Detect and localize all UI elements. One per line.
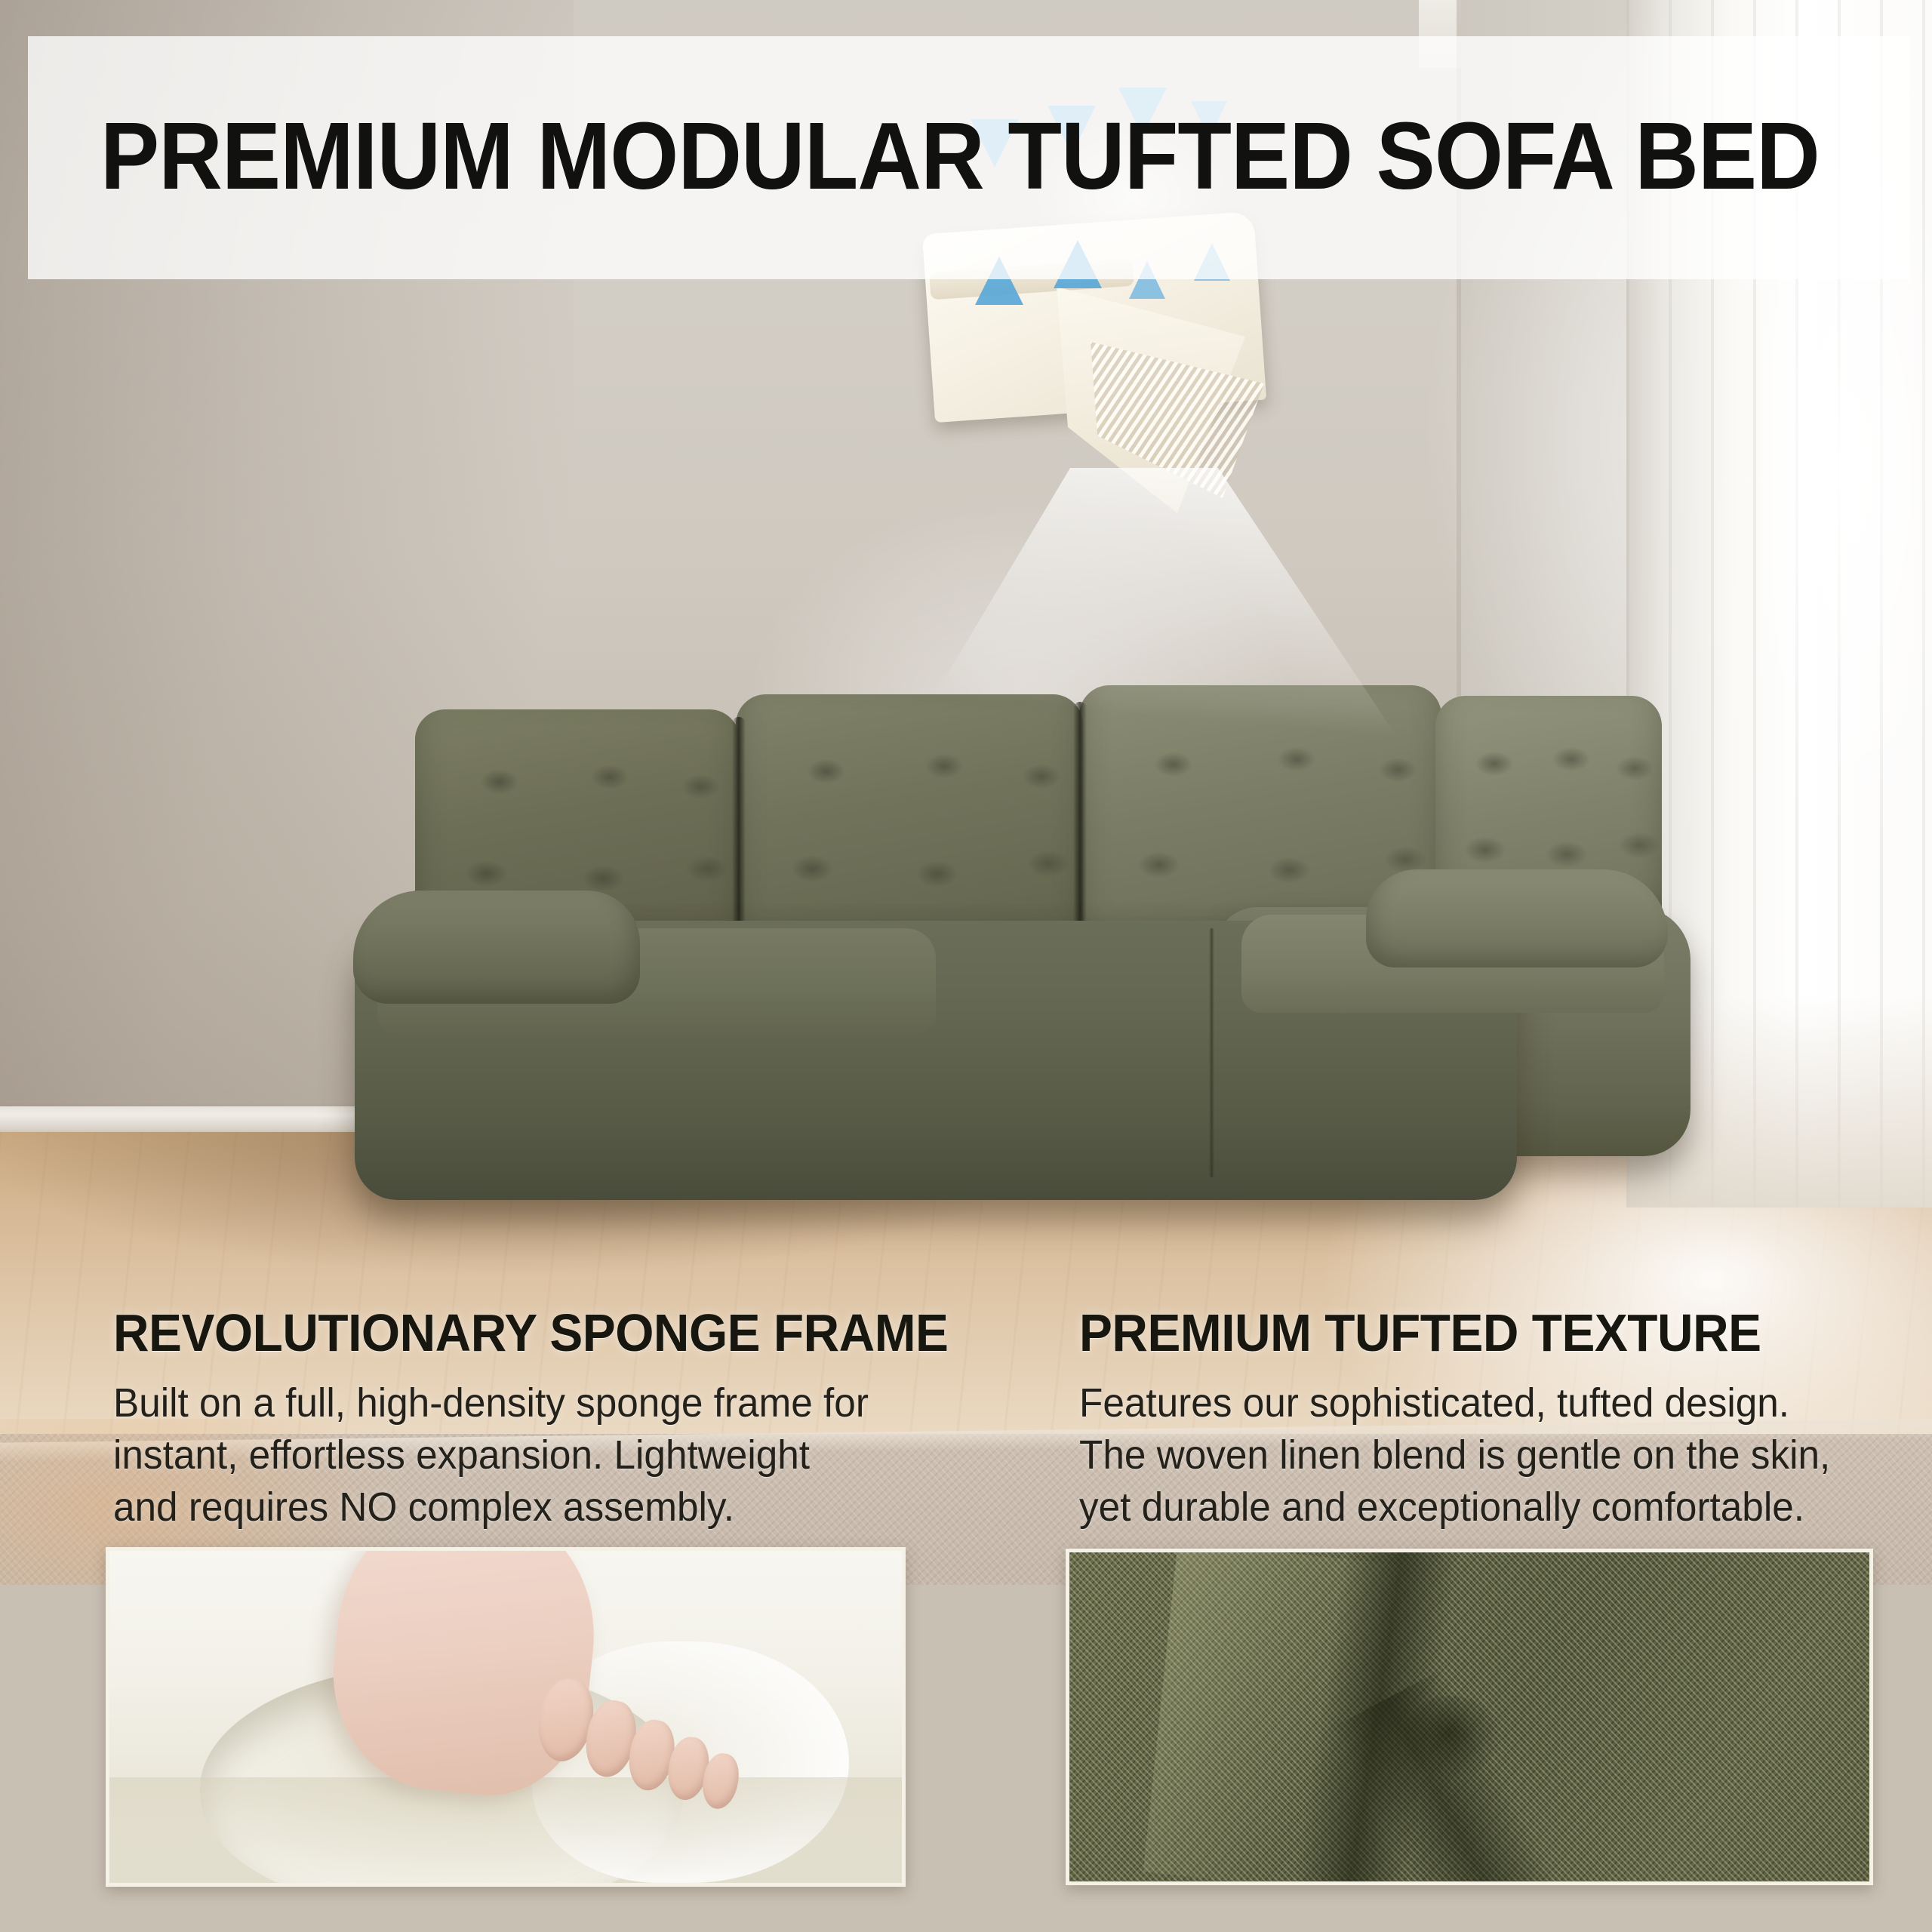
feature-body-line: and requires NO complex assembly.	[113, 1481, 945, 1534]
page-title: PREMIUM MODULAR TUFTED SOFA BED	[100, 109, 1736, 204]
armrest-right	[1366, 869, 1668, 968]
feature-body: Built on a full, high-density sponge fra…	[113, 1377, 945, 1534]
cushion-gap	[732, 717, 746, 943]
feature-block-tufted-texture: PREMIUM TUFTED TEXTURE Features our soph…	[1079, 1306, 1924, 1534]
feature-body-line: The woven linen blend is gentle on the s…	[1079, 1429, 1882, 1481]
armrest-left	[353, 891, 640, 1004]
feature-title: REVOLUTIONARY SPONGE FRAME	[113, 1306, 936, 1361]
feature-body-line: yet durable and exceptionally comfortabl…	[1079, 1481, 1882, 1534]
feature-body: Features our sophisticated, tufted desig…	[1079, 1377, 1882, 1534]
module-seam	[1209, 928, 1214, 1177]
feature-block-sponge-frame: REVOLUTIONARY SPONGE FRAME Built on a fu…	[113, 1306, 989, 1534]
title-banner: PREMIUM MODULAR TUFTED SOFA BED	[28, 36, 1909, 279]
feature-body-line: instant, effortless expansion. Lightweig…	[113, 1429, 945, 1481]
sofa	[325, 702, 1690, 1260]
inset-photo-fabric	[1066, 1549, 1873, 1885]
fabric-tuft-button	[1401, 1696, 1500, 1779]
product-marketing-poster: PREMIUM MODULAR TUFTED SOFA BED REVOLUTI…	[0, 0, 1932, 1932]
feature-body-line: Features our sophisticated, tufted desig…	[1079, 1377, 1882, 1429]
inset-photo-foam	[106, 1547, 906, 1887]
feature-body-line: Built on a full, high-density sponge fra…	[113, 1377, 945, 1429]
feature-title: PREMIUM TUFTED TEXTURE	[1079, 1306, 1874, 1361]
